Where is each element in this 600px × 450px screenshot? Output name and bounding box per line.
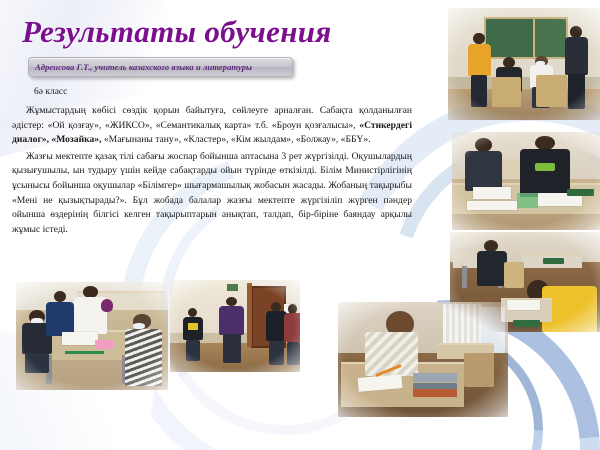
photo-students-in-corridor xyxy=(170,280,300,372)
class-label: 6ә класс xyxy=(34,87,67,97)
author-plaque: Адреисова Г.Т., учитель казахского языка… xyxy=(28,57,293,77)
photo-students-writing-notes xyxy=(452,132,600,230)
paragraph-2: Жазғы мектепте қазақ тілі сабағы жоспар … xyxy=(12,150,412,238)
photo-girl-writing xyxy=(338,302,508,417)
body-text: Жұмыстардың көбісі сөздік қорын байытуға… xyxy=(12,104,412,239)
presentation-slide: Результаты обучения Адреисова Г.Т., учит… xyxy=(0,0,600,450)
paragraph-1: Жұмыстардың көбісі сөздік қорын байытуға… xyxy=(12,104,412,148)
photo-group-work-table xyxy=(16,282,168,390)
page-title: Результаты обучения xyxy=(22,14,332,50)
photo-classroom-group-discussion xyxy=(448,8,600,120)
author-label: Адреисова Г.Т., учитель казахского языка… xyxy=(35,62,252,72)
